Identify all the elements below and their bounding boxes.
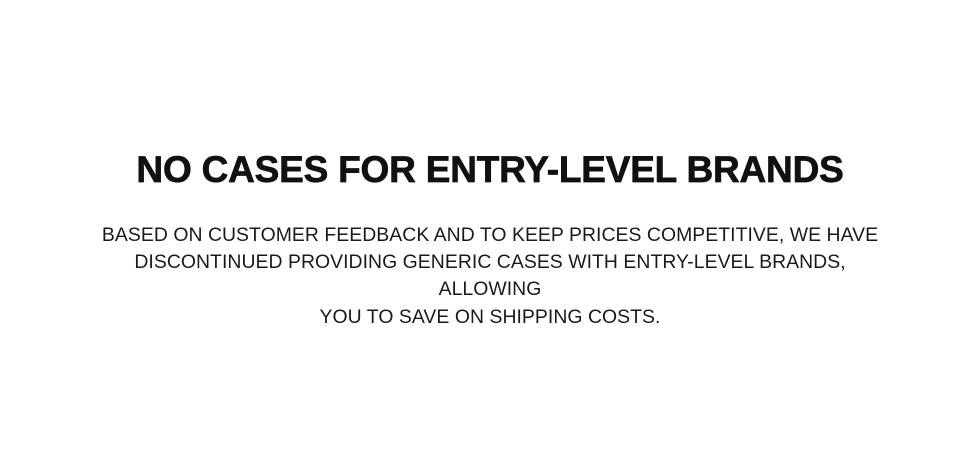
promo-description-line: BASED ON CUSTOMER FEEDBACK AND TO KEEP P… — [90, 222, 890, 249]
page-title: NO CASES FOR ENTRY-LEVEL BRANDS — [0, 148, 980, 192]
promo-banner: NO CASES FOR ENTRY-LEVEL BRANDS BASED ON… — [0, 0, 980, 450]
promo-description-line: DISCONTINUED PROVIDING GENERIC CASES WIT… — [90, 249, 890, 303]
promo-description: BASED ON CUSTOMER FEEDBACK AND TO KEEP P… — [90, 222, 890, 331]
promo-description-line: YOU TO SAVE ON SHIPPING COSTS. — [90, 304, 890, 331]
